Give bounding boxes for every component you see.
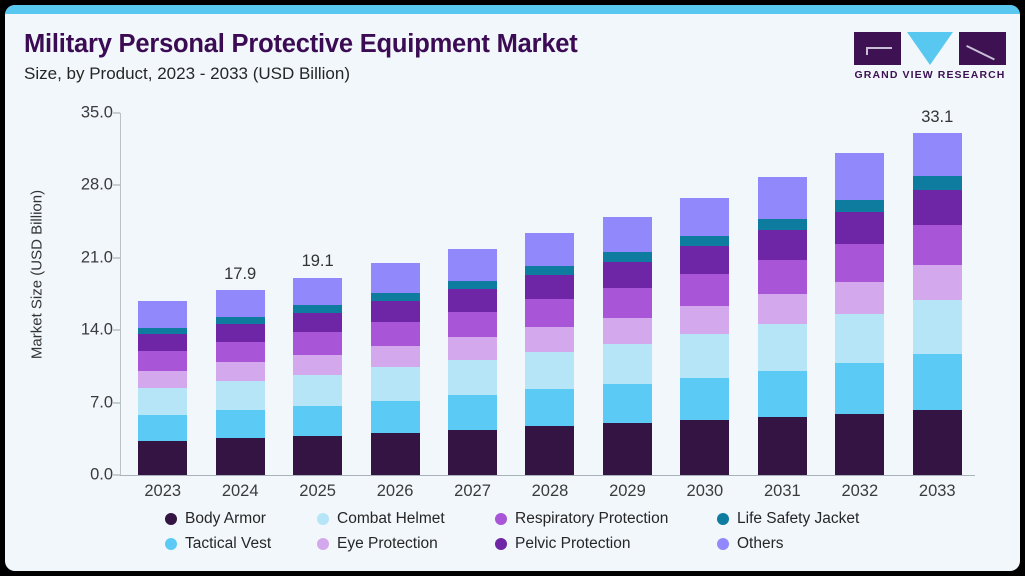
bar-segment[interactable] — [913, 265, 962, 300]
bar-segment[interactable] — [835, 314, 884, 364]
bar-segment[interactable] — [603, 344, 652, 384]
y-axis-tick-mark — [113, 113, 120, 114]
legend-row: Tactical VestEye ProtectionPelvic Protec… — [165, 535, 1005, 553]
bar-segment[interactable] — [835, 414, 884, 475]
bar-segment[interactable] — [293, 332, 342, 355]
bar-segment[interactable] — [371, 367, 420, 400]
bar-segment[interactable] — [293, 305, 342, 312]
bar-segment[interactable] — [293, 313, 342, 333]
bar-segment[interactable] — [448, 289, 497, 312]
legend-item[interactable]: Pelvic Protection — [495, 535, 717, 553]
bar-segment[interactable] — [758, 371, 807, 418]
bar-segment[interactable] — [913, 190, 962, 225]
bar-segment[interactable] — [293, 436, 342, 475]
bar-segment[interactable] — [525, 233, 574, 266]
bar-segment[interactable] — [293, 406, 342, 436]
bar-segment[interactable] — [680, 306, 729, 334]
legend-swatch-icon — [317, 513, 329, 525]
bar-segment[interactable] — [371, 263, 420, 293]
bar-segment[interactable] — [448, 312, 497, 338]
logo-marks — [854, 32, 1006, 66]
stacked-bar[interactable] — [371, 263, 420, 475]
legend-item[interactable]: Combat Helmet — [317, 510, 495, 528]
stacked-bar[interactable] — [758, 177, 807, 475]
chart-card: Military Personal Protective Equipment M… — [5, 5, 1020, 571]
stacked-bar[interactable] — [913, 133, 962, 475]
stacked-bar[interactable] — [603, 217, 652, 475]
logo-right-block-icon — [959, 32, 1006, 65]
bar-segment[interactable] — [758, 324, 807, 371]
bar-segment[interactable] — [293, 375, 342, 406]
y-axis-tick-label: 28.0 — [49, 176, 113, 195]
bar-segment[interactable] — [913, 225, 962, 265]
bar-segment[interactable] — [913, 133, 962, 176]
x-axis-tick-label: 2023 — [124, 482, 201, 501]
legend-row: Body ArmorCombat HelmetRespiratory Prote… — [165, 510, 1005, 528]
bar-segment[interactable] — [448, 337, 497, 360]
logo-wordmark: GRAND VIEW RESEARCH — [854, 69, 1006, 81]
y-axis-tick-mark — [113, 185, 120, 186]
legend-item[interactable]: Respiratory Protection — [495, 510, 717, 528]
legend-label: Pelvic Protection — [515, 535, 630, 553]
bar-segment[interactable] — [835, 244, 884, 281]
x-axis-tick-label: 2026 — [356, 482, 433, 501]
legend-label: Life Safety Jacket — [737, 510, 859, 528]
bar-segment[interactable] — [216, 317, 265, 324]
x-axis-tick-label: 2032 — [821, 482, 898, 501]
bar-column[interactable] — [511, 113, 588, 475]
legend-label: Respiratory Protection — [515, 510, 668, 528]
bar-segment[interactable] — [525, 266, 574, 275]
bar-segment[interactable] — [913, 410, 962, 475]
bar-segment[interactable] — [525, 389, 574, 426]
legend-swatch-icon — [717, 538, 729, 550]
stacked-bar[interactable] — [680, 198, 729, 475]
bar-segment[interactable] — [216, 324, 265, 342]
bar-segment[interactable] — [913, 300, 962, 354]
bar-segment[interactable] — [758, 230, 807, 260]
legend-swatch-icon — [495, 513, 507, 525]
x-axis-tick-label: 2024 — [201, 482, 278, 501]
bar-segment[interactable] — [913, 354, 962, 410]
chart-legend: Body ArmorCombat HelmetRespiratory Prote… — [165, 510, 1005, 560]
bar-segment[interactable] — [603, 217, 652, 252]
y-axis-tick-mark — [113, 475, 120, 476]
y-axis-tick-mark — [113, 330, 120, 331]
legend-swatch-icon — [317, 538, 329, 550]
y-axis-tick-label: 0.0 — [49, 466, 113, 485]
bar-segment[interactable] — [758, 177, 807, 218]
bar-segment[interactable] — [758, 294, 807, 324]
bar-segment[interactable] — [216, 410, 265, 438]
bar-segment[interactable] — [293, 278, 342, 306]
bar-segment[interactable] — [680, 334, 729, 377]
bar-segment[interactable] — [603, 384, 652, 423]
bar-segment[interactable] — [216, 290, 265, 317]
stacked-bar[interactable] — [138, 301, 187, 475]
y-axis-tick-label: 14.0 — [49, 321, 113, 340]
bar-value-label: 19.1 — [279, 252, 356, 271]
bar-segment[interactable] — [913, 176, 962, 189]
bar-segment[interactable] — [448, 249, 497, 281]
x-axis-tick-label: 2028 — [511, 482, 588, 501]
bar-segment[interactable] — [448, 395, 497, 429]
bar-segment[interactable] — [138, 415, 187, 441]
x-axis-tick-label: 2031 — [744, 482, 821, 501]
bar-column[interactable]: 17.9 — [201, 113, 278, 475]
logo-triangle-icon — [907, 32, 953, 65]
legend-swatch-icon — [717, 513, 729, 525]
x-axis-tick-label: 2033 — [899, 482, 976, 501]
bar-value-label: 33.1 — [899, 108, 976, 127]
bar-segment[interactable] — [448, 281, 497, 289]
grand-view-research-logo: GRAND VIEW RESEARCH — [854, 32, 1006, 86]
chart-frame: Military Personal Protective Equipment M… — [0, 0, 1025, 576]
bar-segment[interactable] — [603, 262, 652, 288]
y-axis-tick-label: 35.0 — [49, 104, 113, 123]
legend-swatch-icon — [165, 538, 177, 550]
bar-segment[interactable] — [138, 388, 187, 415]
bar-segment[interactable] — [525, 299, 574, 327]
bar-column[interactable] — [589, 113, 666, 475]
x-axis-line — [120, 475, 975, 476]
y-axis-tick-mark — [113, 402, 120, 403]
page-title: Military Personal Protective Equipment M… — [24, 30, 578, 59]
bar-segment[interactable] — [680, 378, 729, 420]
legend-swatch-icon — [165, 513, 177, 525]
legend-item[interactable]: Eye Protection — [317, 535, 495, 553]
legend-label: Tactical Vest — [185, 535, 271, 553]
bar-segment[interactable] — [371, 346, 420, 368]
bar-segment[interactable] — [448, 430, 497, 476]
x-axis-tick-label: 2027 — [434, 482, 511, 501]
bar-segment[interactable] — [371, 401, 420, 433]
bar-segment[interactable] — [371, 293, 420, 301]
bar-segment[interactable] — [680, 246, 729, 274]
bar-segment[interactable] — [216, 362, 265, 381]
bar-segment[interactable] — [525, 426, 574, 475]
bar-segment[interactable] — [835, 282, 884, 314]
legend-item[interactable]: Body Armor — [165, 510, 317, 528]
bar-segment[interactable] — [216, 342, 265, 363]
y-axis-tick-label: 7.0 — [49, 393, 113, 412]
bar-value-label: 17.9 — [201, 265, 278, 284]
legend-label: Combat Helmet — [337, 510, 445, 528]
x-axis-tick-label: 2030 — [666, 482, 743, 501]
logo-right-mark-icon — [966, 45, 995, 60]
bar-segment[interactable] — [758, 219, 807, 230]
x-axis-ticks: 2023202420252026202720282029203020312032… — [124, 482, 976, 501]
bar-segment[interactable] — [525, 327, 574, 352]
legend-item[interactable]: Tactical Vest — [165, 535, 317, 553]
bar-segment[interactable] — [680, 198, 729, 236]
legend-item[interactable]: Life Safety Jacket — [717, 510, 859, 528]
bar-column[interactable] — [666, 113, 743, 475]
bar-segment[interactable] — [603, 318, 652, 344]
bar-segment[interactable] — [680, 420, 729, 475]
stacked-bar[interactable] — [293, 278, 342, 475]
bar-column[interactable] — [434, 113, 511, 475]
stacked-bar[interactable] — [448, 249, 497, 475]
bar-column[interactable]: 33.1 — [899, 113, 976, 475]
bar-segment[interactable] — [525, 352, 574, 389]
legend-label: Body Armor — [185, 510, 266, 528]
bar-column[interactable] — [744, 113, 821, 475]
bar-series-container: 17.919.133.1 — [124, 113, 976, 475]
bar-column[interactable] — [124, 113, 201, 475]
bar-segment[interactable] — [138, 301, 187, 328]
bar-segment[interactable] — [216, 438, 265, 475]
legend-label: Eye Protection — [337, 535, 438, 553]
bar-segment[interactable] — [835, 200, 884, 212]
bar-segment[interactable] — [835, 153, 884, 200]
bar-segment[interactable] — [138, 334, 187, 351]
bar-segment[interactable] — [525, 275, 574, 299]
bar-segment[interactable] — [603, 423, 652, 475]
x-axis-tick-label: 2025 — [279, 482, 356, 501]
bar-segment[interactable] — [371, 301, 420, 322]
bar-segment[interactable] — [371, 322, 420, 346]
bar-segment[interactable] — [835, 363, 884, 414]
bar-segment[interactable] — [448, 360, 497, 395]
bar-segment[interactable] — [603, 252, 652, 262]
x-axis-tick-label: 2029 — [589, 482, 666, 501]
y-axis-ticks: 35.028.021.014.07.00.0 — [41, 96, 113, 496]
stacked-bar[interactable] — [216, 290, 265, 475]
page-subtitle: Size, by Product, 2023 - 2033 (USD Billi… — [24, 64, 350, 84]
bar-segment[interactable] — [603, 288, 652, 318]
legend-label: Others — [737, 535, 784, 553]
chart-header: Military Personal Protective Equipment M… — [5, 14, 1020, 96]
bar-segment[interactable] — [293, 355, 342, 375]
bar-segment[interactable] — [138, 351, 187, 371]
y-axis-tick-label: 21.0 — [49, 248, 113, 267]
logo-left-mark-icon — [866, 47, 892, 55]
bar-segment[interactable] — [371, 433, 420, 475]
bar-segment[interactable] — [138, 371, 187, 389]
y-axis-line — [120, 113, 121, 476]
accent-top-bar — [5, 5, 1020, 14]
bar-column[interactable] — [821, 113, 898, 475]
plot-area: Market Size (USD Billion) 35.028.021.014… — [5, 96, 1020, 496]
bar-segment[interactable] — [680, 274, 729, 306]
bar-segment[interactable] — [758, 260, 807, 294]
legend-item[interactable]: Others — [717, 535, 784, 553]
bar-segment[interactable] — [138, 441, 187, 475]
bar-segment[interactable] — [216, 381, 265, 410]
bar-segment[interactable] — [835, 212, 884, 244]
stacked-bar[interactable] — [525, 233, 574, 475]
y-axis-tick-mark — [113, 257, 120, 258]
bar-segment[interactable] — [680, 236, 729, 246]
bar-column[interactable]: 19.1 — [279, 113, 356, 475]
legend-swatch-icon — [495, 538, 507, 550]
bar-segment[interactable] — [758, 417, 807, 475]
stacked-bar[interactable] — [835, 153, 884, 475]
bar-column[interactable] — [356, 113, 433, 475]
logo-left-block-icon — [854, 32, 901, 65]
